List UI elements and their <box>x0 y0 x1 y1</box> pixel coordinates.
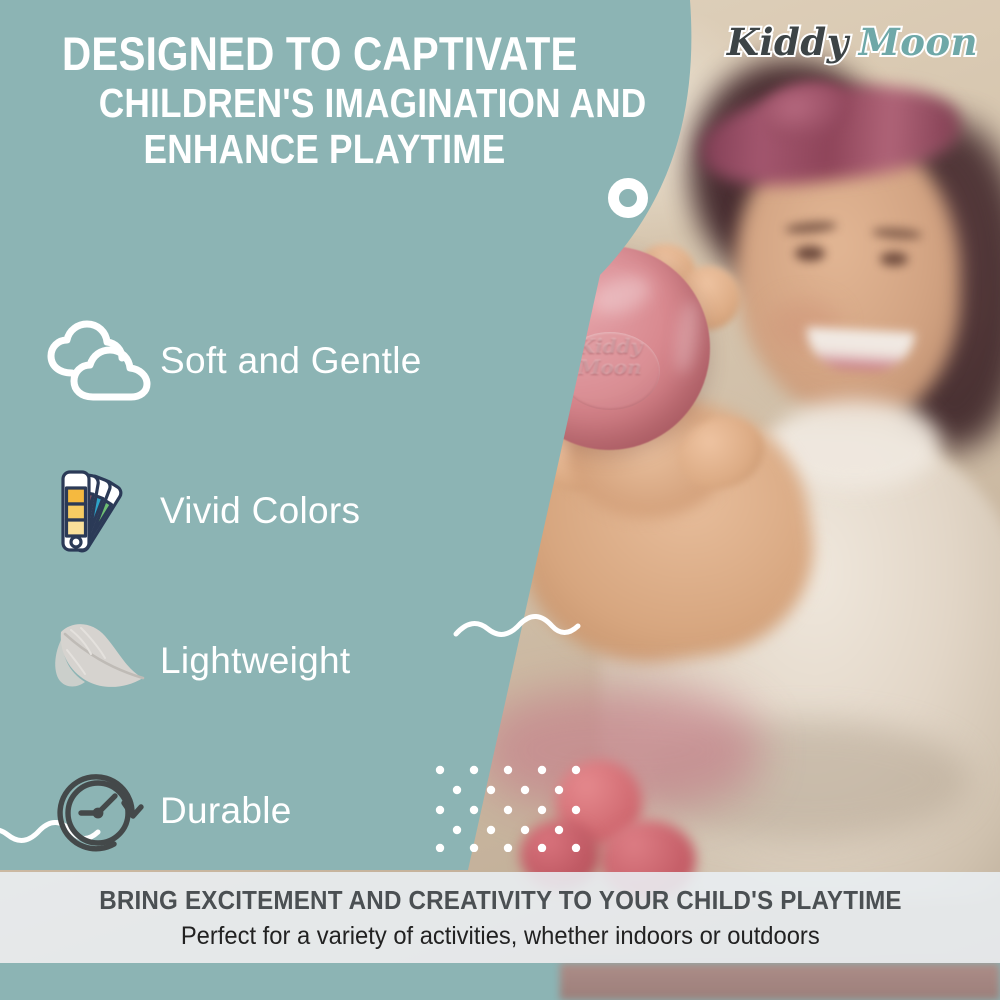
ring-icon <box>608 178 648 218</box>
bottom-banner: BRING EXCITEMENT AND CREATIVITY TO YOUR … <box>0 872 1000 963</box>
feature-label: Durable <box>160 790 292 832</box>
feature-label: Soft and Gentle <box>160 340 422 382</box>
promo-banner: Kiddy Moon KiddyMoon DESIGNED TO CAPTIVA… <box>0 0 1000 1000</box>
headline-line-3: ENHANCE PLAYTIME <box>99 126 551 172</box>
bottom-strip-photo <box>560 963 1000 1000</box>
headline: DESIGNED TO CAPTIVATE CHILDREN'S IMAGINA… <box>62 28 622 172</box>
feature-list: Soft and Gentle <box>40 286 510 886</box>
feature-label: Vivid Colors <box>160 490 360 532</box>
brand-logo: KiddyMoon <box>727 20 978 64</box>
feather-icon <box>40 616 160 706</box>
headline-line-1: DESIGNED TO CAPTIVATE <box>62 28 544 80</box>
banner-headline: BRING EXCITEMENT AND CREATIVITY TO YOUR … <box>99 885 902 916</box>
feature-item-soft-and-gentle: Soft and Gentle <box>40 286 510 436</box>
logo-moon: Moon <box>859 20 978 64</box>
feature-item-vivid-colors: Vivid Colors <box>40 436 510 586</box>
banner-subtext: Perfect for a variety of activities, whe… <box>181 922 820 951</box>
palette-icon <box>40 466 160 556</box>
feature-item-lightweight: Lightweight <box>40 586 510 736</box>
cloud-icon <box>40 319 160 403</box>
logo-kiddy: Kiddy <box>727 20 849 64</box>
feature-label: Lightweight <box>160 640 351 682</box>
clock-icon <box>40 763 160 859</box>
headline-line-2: CHILDREN'S IMAGINATION AND <box>99 80 551 126</box>
feature-item-durable: Durable <box>40 736 510 886</box>
